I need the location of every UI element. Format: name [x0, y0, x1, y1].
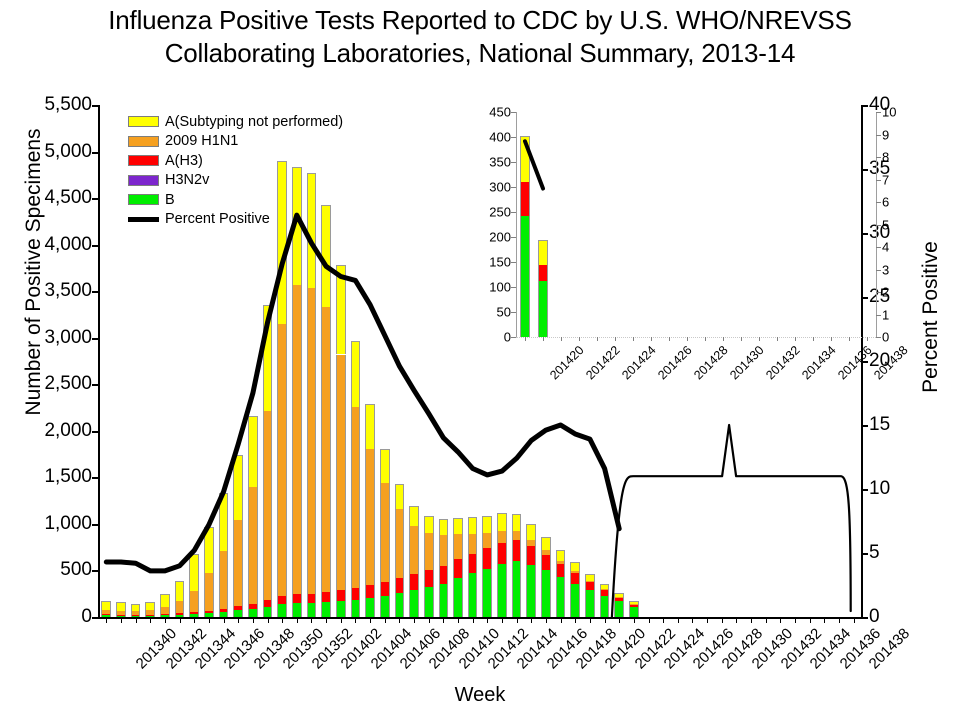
legend-item: H3N2v: [128, 171, 343, 191]
x-axis-tick: [663, 617, 664, 623]
inset-x-axis-tick: [849, 337, 850, 341]
x-axis-tick: [165, 617, 166, 623]
legend-item-label: Percent Positive: [165, 211, 270, 227]
legend-swatch-icon: [128, 194, 159, 205]
legend-swatch-icon: [128, 155, 159, 166]
inset-y-axis-right-tick: [876, 202, 881, 203]
inset-y-axis-right-tick: [876, 180, 881, 181]
inset-x-axis-line: [516, 337, 876, 339]
y-axis-right-tick: [861, 489, 868, 491]
inset-plot-area: 0501001502002503003504004500123456789102…: [516, 112, 876, 337]
x-axis-tick: [546, 617, 547, 623]
x-axis-tick: [795, 617, 796, 623]
chart-page: Influenza Positive Tests Reported to CDC…: [0, 0, 960, 720]
chart-title-line-2: Collaborating Laboratories, National Sum…: [0, 37, 960, 70]
y-axis-left-tick: [92, 105, 99, 107]
x-axis-tick: [209, 617, 210, 623]
y-axis-right-tick-label: 10: [869, 478, 890, 500]
x-axis-tick: [355, 617, 356, 623]
x-axis-tick: [839, 617, 840, 623]
x-axis-tick: [487, 617, 488, 623]
inset-x-axis-tick: [831, 337, 832, 341]
inset-y-axis-left-tick-label: 100: [489, 280, 511, 295]
x-axis-tick: [180, 617, 181, 623]
inset-x-axis-tick: [741, 337, 742, 341]
y-axis-right-tick-label: 15: [869, 414, 890, 436]
x-axis-tick: [619, 617, 620, 623]
x-axis-tick: [678, 617, 679, 623]
y-axis-right-tick: [861, 617, 868, 619]
x-axis-tick: [605, 617, 606, 623]
inset-y-axis-right-tick-label: 4: [882, 240, 889, 255]
inset-y-axis-right-tick: [876, 112, 881, 113]
inset-x-axis-tick: [723, 337, 724, 341]
y-axis-left-tick-label: 3,000: [44, 327, 92, 349]
y-axis-left-tick: [92, 524, 99, 526]
y-axis-right-tick-label: 5: [869, 542, 880, 564]
x-axis-tick: [326, 617, 327, 623]
x-axis-tick: [194, 617, 195, 623]
y-axis-left-tick-label: 0: [81, 606, 92, 628]
inset-y-axis-right-tick: [876, 247, 881, 248]
inset-y-axis-left-tick-label: 400: [489, 130, 511, 145]
inset-x-axis-tick: [777, 337, 778, 341]
inset-y-axis-right-tick: [876, 337, 881, 338]
y-axis-left-tick-label: 1,000: [44, 513, 92, 535]
x-axis-tick: [253, 617, 254, 623]
inset-y-axis-right-tick: [876, 315, 881, 316]
inset-y-axis-left-tick-label: 250: [489, 205, 511, 220]
y-axis-left-tick: [92, 338, 99, 340]
y-axis-left-tick-label: 4,000: [44, 234, 92, 256]
inset-y-axis-right-tick-label: 10: [882, 105, 896, 120]
y-axis-left-tick-label: 3,500: [44, 280, 92, 302]
inset-y-axis-left-tick: [511, 337, 516, 338]
inset-x-axis-tick: [669, 337, 670, 341]
inset-y-axis-right-tick-label: 8: [882, 150, 889, 165]
x-axis-tick: [502, 617, 503, 623]
inset-x-axis-tick: [633, 337, 634, 341]
inset-x-axis-tick: [561, 337, 562, 341]
x-axis-tick: [736, 617, 737, 623]
inset-x-axis-tick: [597, 337, 598, 341]
y-axis-left-tick: [92, 384, 99, 386]
y-axis-left-tick: [92, 152, 99, 154]
x-axis-tick: [268, 617, 269, 623]
legend-item: 2009 H1N1: [128, 132, 343, 152]
x-axis-tick: [561, 617, 562, 623]
inset-y-axis-right-tick-label: 5: [882, 217, 889, 232]
inset-y-axis-left-tick-label: 50: [497, 305, 511, 320]
y-axis-left-tick-label: 2,500: [44, 373, 92, 395]
x-axis-tick: [224, 617, 225, 623]
inset-percent-positive-line: [525, 141, 543, 188]
y-axis-left-tick-label: 5,000: [44, 141, 92, 163]
inset-y-axis-left-tick-label: 300: [489, 180, 511, 195]
x-axis-tick: [238, 617, 239, 623]
inset-x-axis-tick: [867, 337, 868, 341]
x-axis-tick: [473, 617, 474, 623]
x-axis-tick: [414, 617, 415, 623]
inset-x-axis-tick: [615, 337, 616, 341]
x-axis-tick: [707, 617, 708, 623]
legend-item: A(H3): [128, 151, 343, 171]
legend-item: B: [128, 190, 343, 210]
inset-x-axis-tick: [813, 337, 814, 341]
x-axis-tick: [341, 617, 342, 623]
inset-y-axis-left-tick-label: 150: [489, 255, 511, 270]
x-axis-tick: [297, 617, 298, 623]
inset-y-axis-right-tick: [876, 225, 881, 226]
inset-y-axis-right-tick: [876, 157, 881, 158]
x-axis-tick: [634, 617, 635, 623]
y-axis-left-tick-label: 5,500: [44, 94, 92, 116]
legend-item-label: 2009 H1N1: [165, 133, 238, 149]
legend-swatch-icon: [128, 175, 159, 186]
x-axis-tick: [429, 617, 430, 623]
legend-item-label: B: [165, 192, 175, 208]
inset-x-axis-tick: [705, 337, 706, 341]
y-axis-right-title: Percent Positive: [919, 132, 943, 502]
y-axis-left-tick-label: 2,000: [44, 420, 92, 442]
legend-item-label: A(H3): [165, 153, 203, 169]
inset-y-axis-right-tick: [876, 135, 881, 136]
inset-y-axis-right-tick-label: 3: [882, 262, 889, 277]
inset-y-axis-right-tick-label: 0: [882, 330, 889, 345]
legend-swatch-icon: [128, 136, 159, 147]
x-axis-tick: [370, 617, 371, 623]
y-axis-left-tick: [92, 291, 99, 293]
percent-positive-trailing-artifact: [612, 425, 851, 617]
x-axis-tick: [121, 617, 122, 623]
inset-y-axis-right-tick-label: 2: [882, 285, 889, 300]
inset-y-axis-right-tick: [876, 270, 881, 271]
inset-y-axis-left-tick-label: 350: [489, 155, 511, 170]
x-axis-title: Week: [0, 684, 960, 707]
inset-x-axis-tick: [795, 337, 796, 341]
inset-x-axis-tick: [543, 337, 544, 341]
chart-title: Influenza Positive Tests Reported to CDC…: [0, 4, 960, 70]
x-axis-tick: [824, 617, 825, 623]
x-axis-tick: [649, 617, 650, 623]
x-axis-tick: [106, 617, 107, 623]
inset-x-axis-tick: [759, 337, 760, 341]
x-axis-tick: [150, 617, 151, 623]
chart-legend: A(Subtyping not performed)2009 H1N1A(H3)…: [128, 112, 343, 229]
y-axis-right-tick: [861, 553, 868, 555]
inset-x-axis-tick: [525, 337, 526, 341]
x-axis-tick: [311, 617, 312, 623]
x-axis-tick: [517, 617, 518, 623]
legend-swatch-icon: [128, 217, 159, 222]
inset-y-axis-right-tick-label: 7: [882, 172, 889, 187]
x-axis-tick: [443, 617, 444, 623]
x-axis-tick: [692, 617, 693, 623]
inset-y-axis-left-tick-label: 0: [504, 330, 511, 345]
y-axis-right-tick: [861, 425, 868, 427]
y-axis-left-tick: [92, 431, 99, 433]
inset-y-axis-right-tick: [876, 292, 881, 293]
x-axis-tick: [531, 617, 532, 623]
x-axis-tick: [766, 617, 767, 623]
chart-title-line-1: Influenza Positive Tests Reported to CDC…: [0, 4, 960, 37]
x-axis-tick: [810, 617, 811, 623]
inset-y-axis-right-tick-label: 9: [882, 127, 889, 142]
inset-x-axis-tick: [687, 337, 688, 341]
inset-x-axis-tick: [579, 337, 580, 341]
x-axis-tick: [854, 617, 855, 623]
legend-item-label: H3N2v: [165, 172, 209, 188]
legend-item: Percent Positive: [128, 210, 343, 230]
inset-y-axis-left-tick-label: 200: [489, 230, 511, 245]
legend-swatch-icon: [128, 116, 159, 127]
x-axis-tick: [722, 617, 723, 623]
y-axis-left-title: Number of Positive Specimens: [22, 52, 46, 492]
y-axis-left-tick: [92, 245, 99, 247]
inset-y-axis-left-tick-label: 450: [489, 105, 511, 120]
x-axis-line: [99, 617, 863, 619]
x-axis-tick: [385, 617, 386, 623]
inset-percent-positive-line-layer: [516, 112, 876, 337]
inset-y-axis-right-tick-label: 6: [882, 195, 889, 210]
x-axis-tick: [590, 617, 591, 623]
x-axis-tick: [575, 617, 576, 623]
y-axis-right-tick: [861, 105, 868, 107]
x-axis-tick: [458, 617, 459, 623]
y-axis-left-tick: [92, 477, 99, 479]
inset-x-axis-tick: [651, 337, 652, 341]
y-axis-left-tick-label: 1,500: [44, 466, 92, 488]
y-axis-left-tick: [92, 198, 99, 200]
legend-item: A(Subtyping not performed): [128, 112, 343, 132]
legend-item-label: A(Subtyping not performed): [165, 114, 343, 130]
y-axis-left-tick: [92, 617, 99, 619]
y-axis-left-tick: [92, 570, 99, 572]
x-axis-tick: [136, 617, 137, 623]
x-axis-tick: [751, 617, 752, 623]
y-axis-left-tick-label: 500: [60, 559, 92, 581]
x-axis-tick: [399, 617, 400, 623]
inset-y-axis-right-tick-label: 1: [882, 307, 889, 322]
x-axis-tick: [780, 617, 781, 623]
x-axis-tick: [282, 617, 283, 623]
y-axis-left-tick-label: 4,500: [44, 187, 92, 209]
